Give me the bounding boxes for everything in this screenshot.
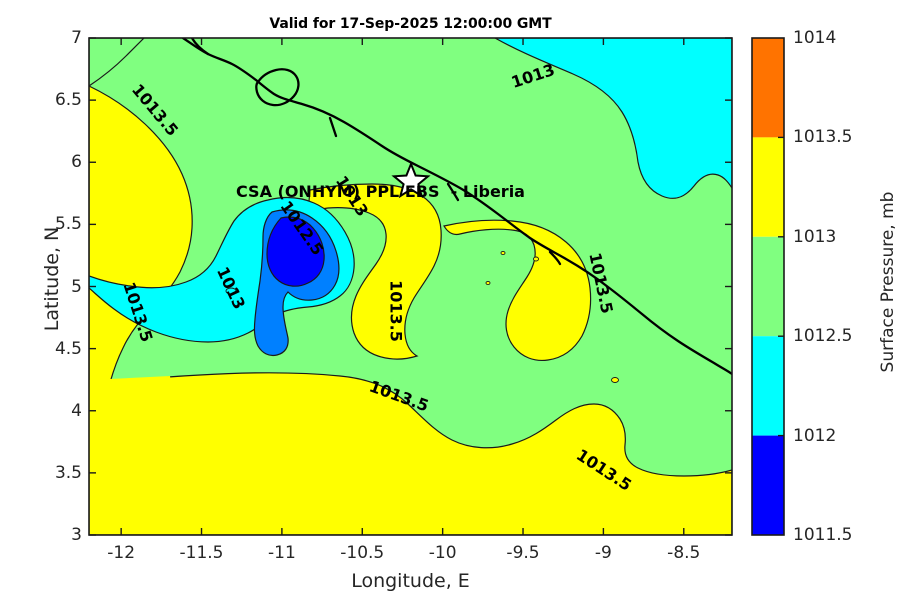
- contour-fill-layer: [89, 38, 732, 535]
- colorbar-band-4: [752, 436, 784, 535]
- x-tick-label: -8.5: [667, 543, 700, 563]
- y-tick-label: 3.5: [30, 463, 82, 483]
- y-tick-label: 7: [30, 28, 82, 48]
- colorbar-band-0: [752, 38, 784, 137]
- x-axis-label: Longitude, E: [89, 570, 732, 592]
- y-tick-label: 6.5: [30, 90, 82, 110]
- colorbar-label: Surface Pressure, mb: [878, 152, 898, 412]
- x-tick-label: -10: [429, 543, 457, 563]
- colorbar-band-3: [752, 336, 784, 435]
- colorbar-band-1: [752, 137, 784, 236]
- colorbar-tick-label: 1011.5: [793, 525, 852, 545]
- x-tick-label: -12: [107, 543, 135, 563]
- colorbar-band-2: [752, 237, 784, 336]
- x-tick-label: -10.5: [340, 543, 384, 563]
- contour-label: 1013.5: [387, 280, 406, 342]
- x-tick-label: -11.5: [180, 543, 224, 563]
- map-annotation-text: CSA (ONHYM) PPL EBS - Liberia: [236, 182, 525, 201]
- x-tick-label: -9.5: [506, 543, 539, 563]
- colorbar-tick-label: 1013: [793, 227, 836, 247]
- contour-speck-yellow-a: [612, 378, 619, 383]
- contour-speck-yellow-b: [534, 257, 539, 261]
- colorbar-tick-label: 1012.5: [793, 326, 852, 346]
- y-axis-label: Latitude, N: [41, 149, 63, 409]
- y-tick-label: 3: [30, 525, 82, 545]
- colorbar-tick-label: 1013.5: [793, 127, 852, 147]
- contour-speck-yellow-d: [501, 251, 505, 254]
- colorbar[interactable]: [752, 38, 784, 535]
- figure-container: Valid for 17-Sep-2025 12:00:00 GMT: [0, 0, 900, 600]
- contour-speck-yellow-c: [486, 281, 490, 284]
- x-tick-label: -11: [268, 543, 296, 563]
- x-tick-label: -9: [595, 543, 612, 563]
- colorbar-tick-label: 1012: [793, 426, 836, 446]
- colorbar-tick-label: 1014: [793, 28, 836, 48]
